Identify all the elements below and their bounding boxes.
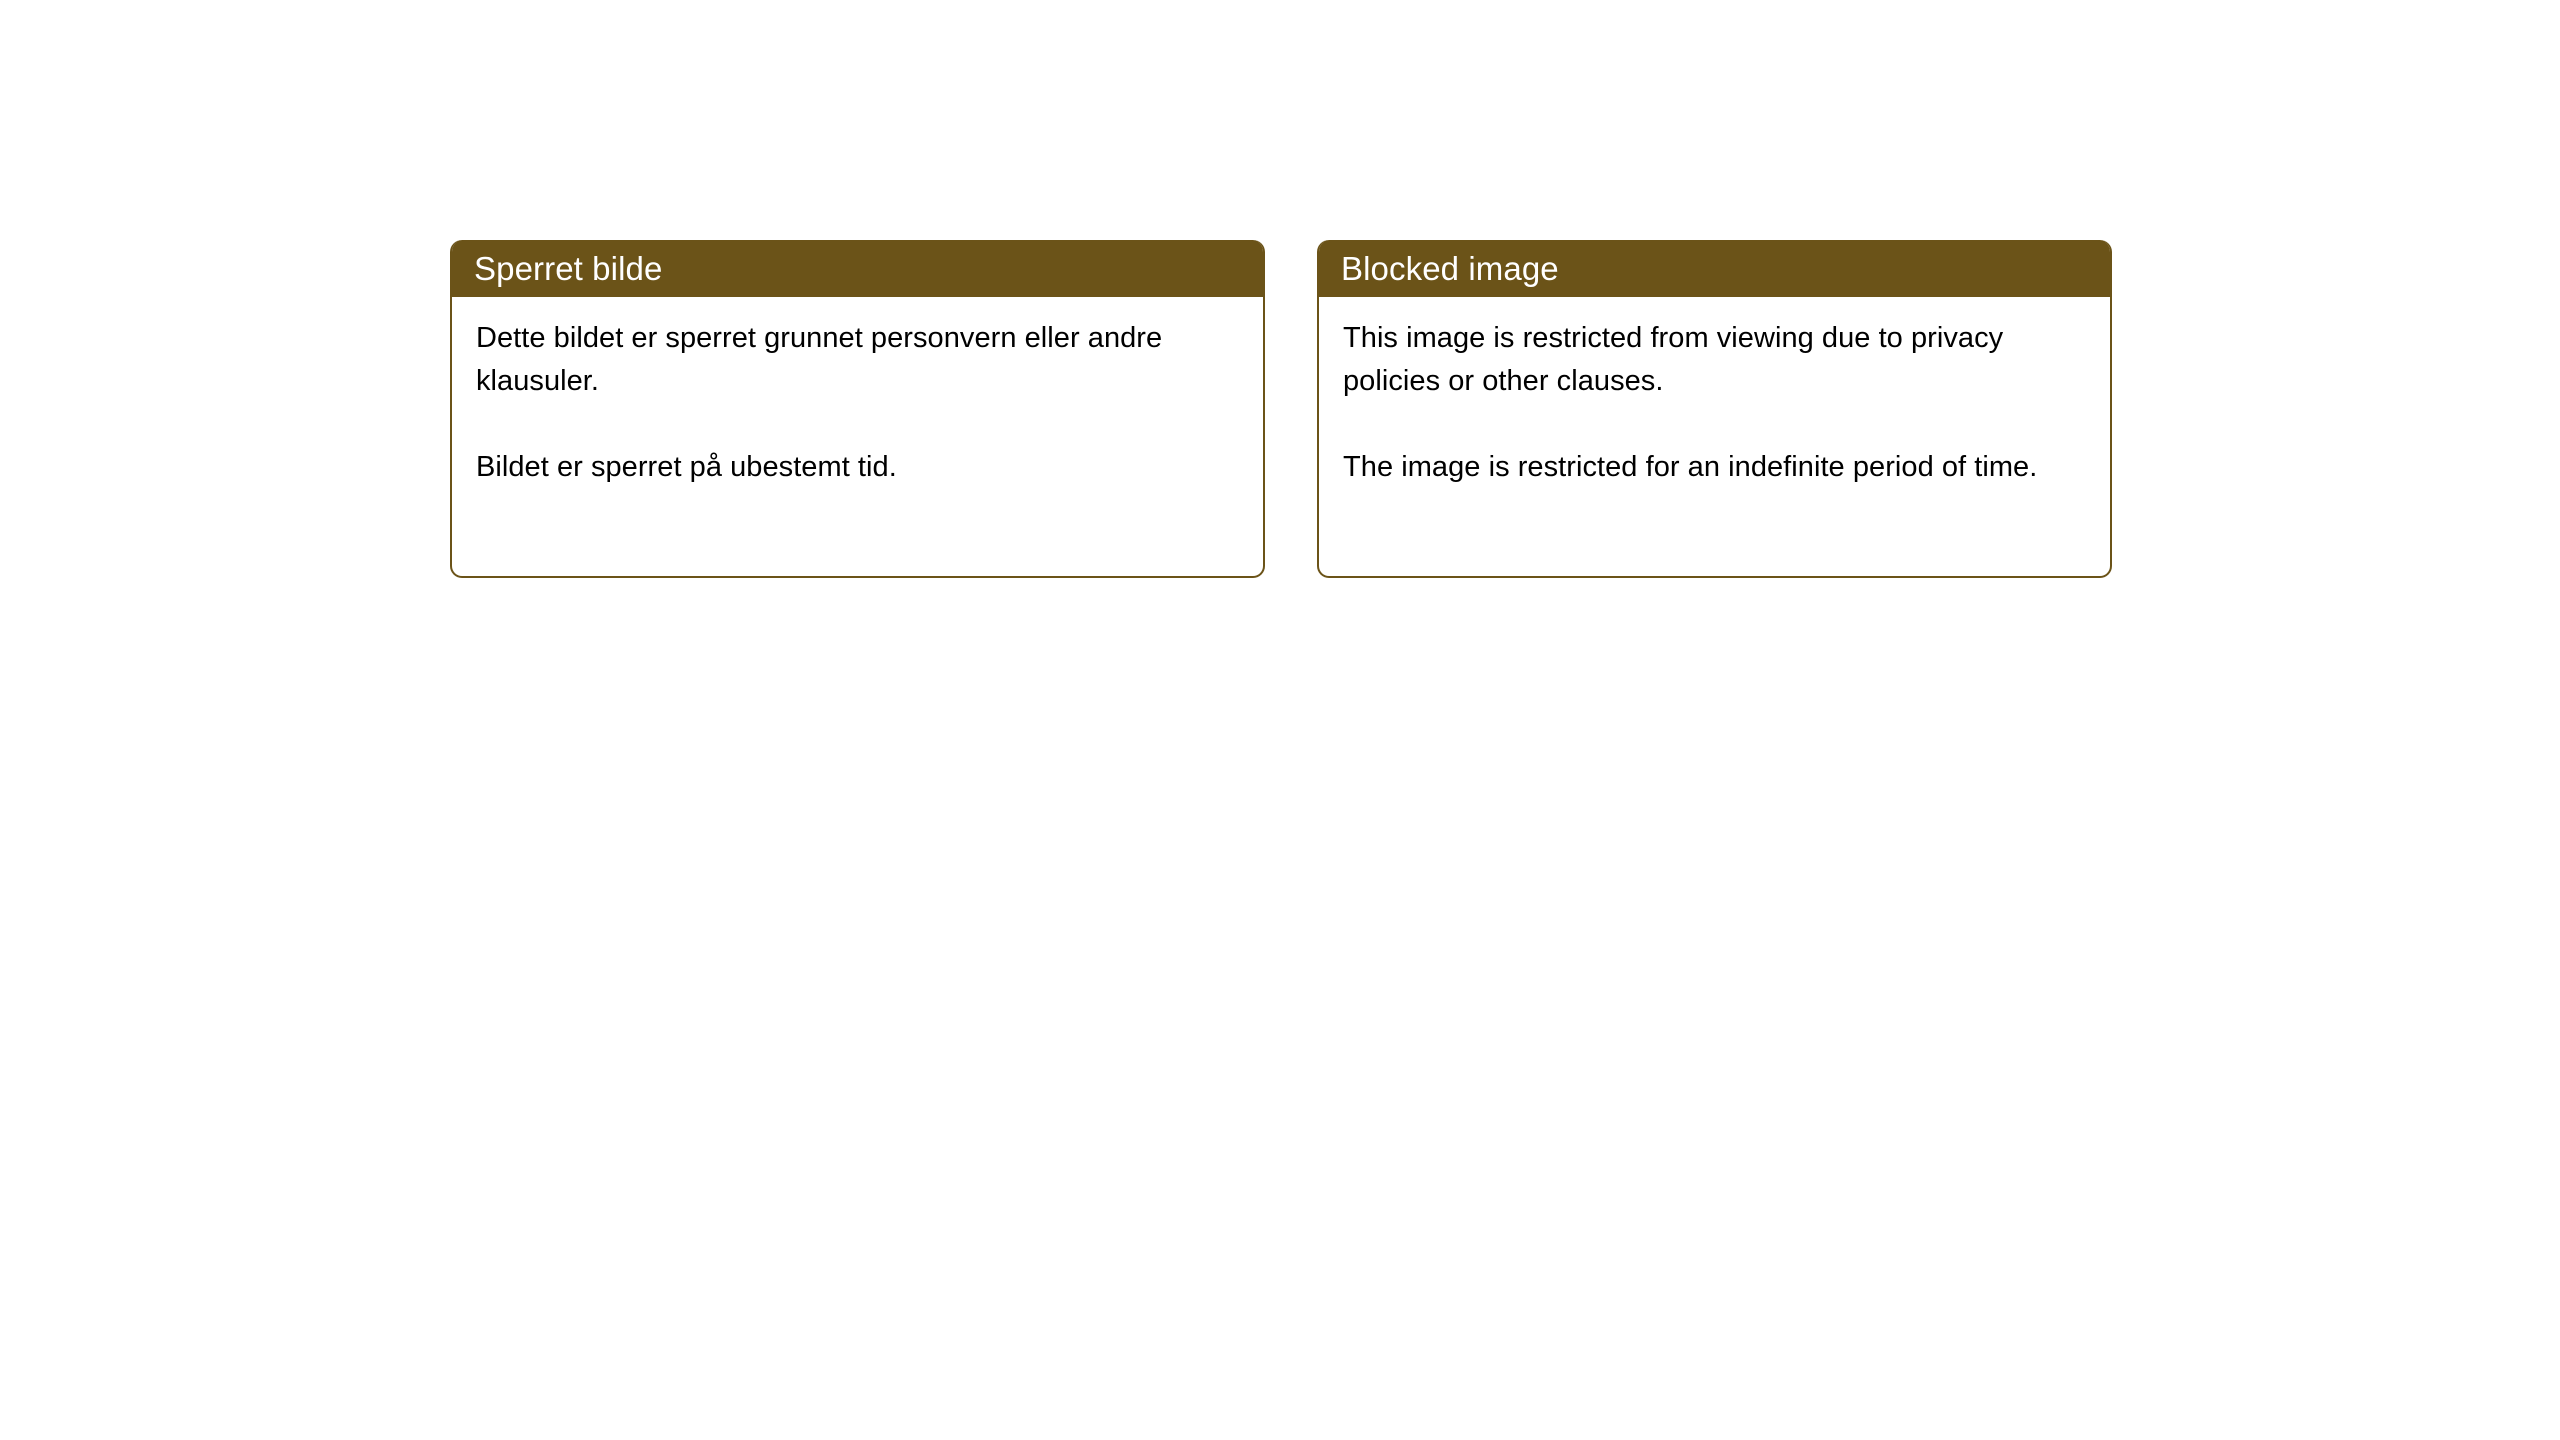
card-body-english: This image is restricted from viewing du…	[1319, 297, 2110, 576]
card-paragraph-reason-norwegian: Dette bildet er sperret grunnet personve…	[476, 317, 1239, 403]
card-title-english: Blocked image	[1341, 252, 1559, 285]
card-title-norwegian: Sperret bilde	[474, 252, 662, 285]
blocked-image-card-norwegian: Sperret bilde Dette bildet er sperret gr…	[450, 240, 1265, 578]
card-body-norwegian: Dette bildet er sperret grunnet personve…	[452, 297, 1263, 576]
blocked-image-card-english: Blocked image This image is restricted f…	[1317, 240, 2112, 578]
card-paragraph-duration-english: The image is restricted for an indefinit…	[1343, 446, 2086, 489]
card-paragraph-reason-english: This image is restricted from viewing du…	[1343, 317, 2086, 403]
card-header-english: Blocked image	[1317, 240, 2112, 297]
card-paragraph-duration-norwegian: Bildet er sperret på ubestemt tid.	[476, 446, 1239, 489]
blocked-image-notice-area: Sperret bilde Dette bildet er sperret gr…	[450, 240, 2112, 578]
card-header-norwegian: Sperret bilde	[450, 240, 1265, 297]
